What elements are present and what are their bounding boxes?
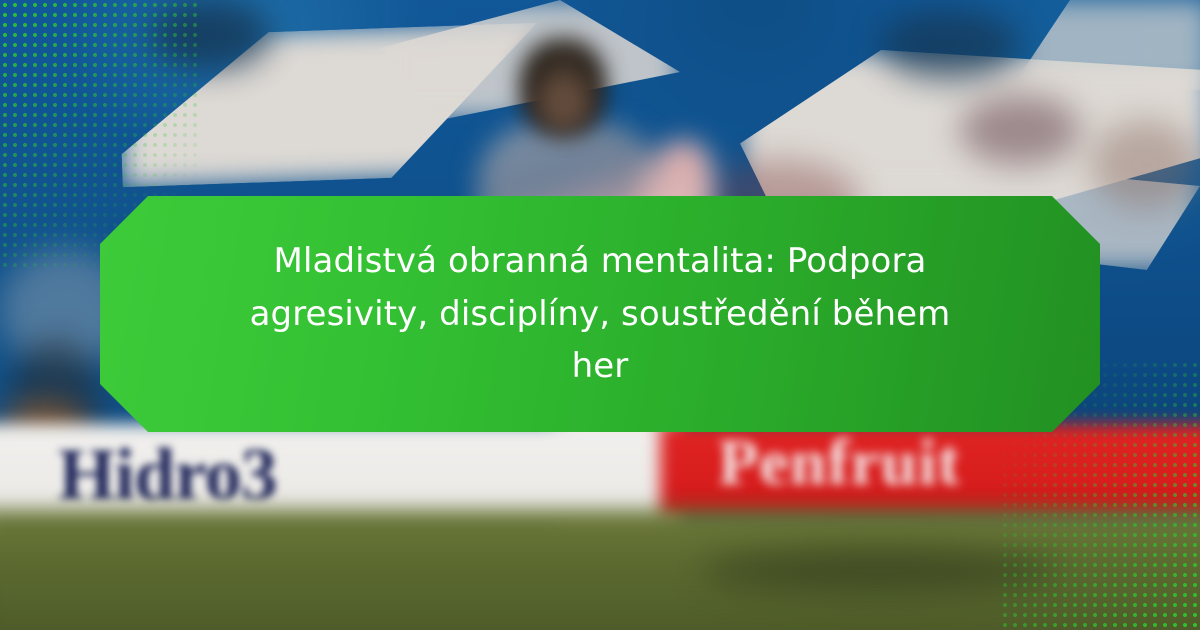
advert-board-right-text: Penfruit bbox=[718, 430, 961, 496]
title-banner: Mladistvá obranná mentalita: Podpora agr… bbox=[100, 196, 1100, 432]
pitch-shadow bbox=[700, 548, 1060, 594]
page-title: Mladistvá obranná mentalita: Podpora agr… bbox=[220, 235, 980, 393]
crowd-blob bbox=[880, 10, 1020, 80]
crowd-blob bbox=[150, 0, 270, 70]
share-card: Hidro3 Penfruit Mladistvá obranná mental… bbox=[0, 0, 1200, 630]
crowd-blob bbox=[960, 95, 1080, 165]
crowd-blob bbox=[1090, 120, 1200, 210]
advert-board-left-text: Hidro3 bbox=[58, 438, 478, 512]
player-figure bbox=[536, 72, 592, 134]
